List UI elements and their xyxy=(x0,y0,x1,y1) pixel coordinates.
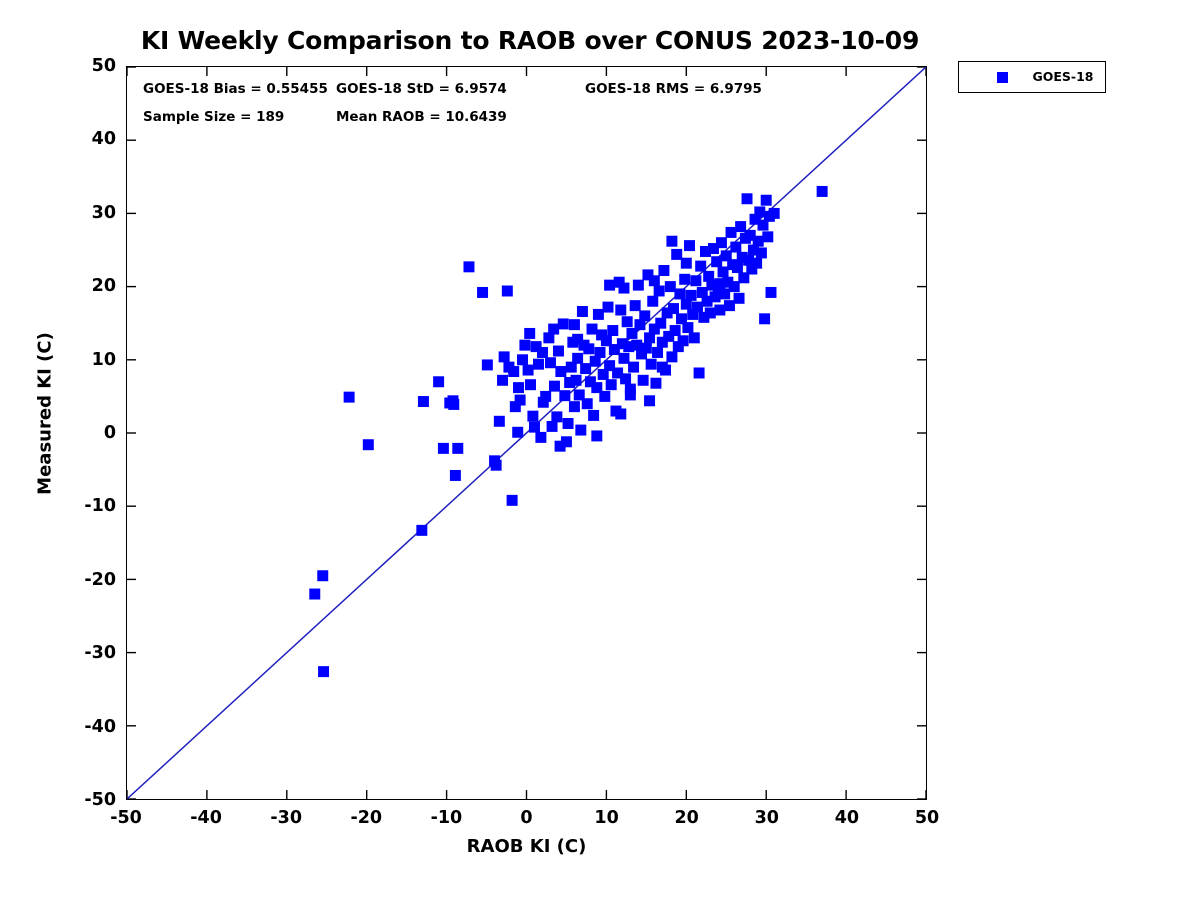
data-point xyxy=(751,258,762,269)
data-point xyxy=(497,375,508,386)
data-point xyxy=(620,373,631,384)
data-point xyxy=(718,266,729,277)
reference-line-one-to-one xyxy=(127,67,926,799)
y-tick-label: -30 xyxy=(52,643,116,663)
data-point xyxy=(666,236,677,247)
data-point xyxy=(591,430,602,441)
data-point xyxy=(540,391,551,402)
data-point xyxy=(726,227,737,238)
data-point xyxy=(549,381,560,392)
y-tick-label: -50 xyxy=(52,790,116,810)
x-tick-label: 40 xyxy=(807,808,887,828)
data-point xyxy=(555,366,566,377)
data-point xyxy=(533,359,544,370)
data-point xyxy=(730,242,741,253)
data-point xyxy=(724,300,735,311)
data-point xyxy=(735,221,746,232)
data-point xyxy=(433,376,444,387)
data-point xyxy=(630,300,641,311)
data-point xyxy=(705,307,716,318)
y-tick-label: -10 xyxy=(52,496,116,516)
x-tick-label: 30 xyxy=(727,808,807,828)
x-tick-label: 50 xyxy=(887,808,967,828)
data-point xyxy=(618,353,629,364)
data-point xyxy=(650,378,661,389)
legend: GOES-18 xyxy=(958,61,1106,93)
legend-marker-goes-18 xyxy=(997,72,1008,83)
y-axis-tick-labels: -50-40-30-20-1001020304050 xyxy=(50,66,116,800)
data-point xyxy=(671,249,682,260)
legend-label-goes-18: GOES-18 xyxy=(1025,69,1101,84)
data-point xyxy=(639,310,650,321)
data-point xyxy=(732,262,743,273)
data-point xyxy=(527,411,538,422)
y-tick-label: 40 xyxy=(52,129,116,149)
y-tick-label: 10 xyxy=(52,350,116,370)
data-point xyxy=(756,247,767,258)
data-point xyxy=(559,390,570,401)
data-point xyxy=(548,324,559,335)
data-point xyxy=(679,274,690,285)
data-point xyxy=(761,195,772,206)
data-point xyxy=(628,362,639,373)
data-point xyxy=(569,401,580,412)
data-point xyxy=(317,570,328,581)
x-axis-tick-labels: -50-40-30-20-1001020304050 xyxy=(126,808,927,836)
data-point xyxy=(684,240,695,251)
data-point xyxy=(575,425,586,436)
data-point xyxy=(666,351,677,362)
series-goes-18 xyxy=(309,186,827,677)
data-point xyxy=(762,231,773,242)
data-point xyxy=(571,375,582,386)
data-point xyxy=(508,366,519,377)
x-tick-label: -30 xyxy=(246,808,326,828)
data-point xyxy=(452,443,463,454)
y-tick-label: -40 xyxy=(52,717,116,737)
data-point xyxy=(647,296,658,307)
data-point xyxy=(695,261,706,272)
data-point xyxy=(681,258,692,269)
data-point xyxy=(686,290,697,301)
page-title: KI Weekly Comparison to RAOB over CONUS … xyxy=(0,26,1060,55)
data-point xyxy=(729,281,740,292)
data-point xyxy=(754,206,765,217)
data-point xyxy=(547,421,558,432)
data-point xyxy=(513,382,524,393)
data-point xyxy=(665,281,676,292)
data-point xyxy=(577,306,588,317)
data-point xyxy=(535,432,546,443)
y-tick-label: -20 xyxy=(52,570,116,590)
data-point xyxy=(644,395,655,406)
data-point xyxy=(477,287,488,298)
data-point xyxy=(309,589,320,600)
data-point xyxy=(638,375,649,386)
data-point xyxy=(525,379,536,390)
x-tick-label: 20 xyxy=(647,808,727,828)
data-point xyxy=(655,318,666,329)
data-point xyxy=(580,363,591,374)
x-tick-label: 0 xyxy=(487,808,567,828)
data-point xyxy=(753,236,764,247)
data-point xyxy=(682,322,693,333)
data-point xyxy=(593,309,604,320)
data-point xyxy=(416,525,427,536)
data-point xyxy=(563,418,574,429)
data-point xyxy=(599,391,610,402)
legend-swatch-rect xyxy=(997,72,1008,83)
data-point xyxy=(633,280,644,291)
data-point xyxy=(491,460,502,471)
data-point xyxy=(622,316,633,327)
data-point xyxy=(515,395,526,406)
data-point xyxy=(714,305,725,316)
data-point xyxy=(572,353,583,364)
data-point xyxy=(618,283,629,294)
data-point xyxy=(555,441,566,452)
x-tick-label: -20 xyxy=(326,808,406,828)
y-tick-label: 30 xyxy=(52,203,116,223)
data-point xyxy=(641,343,652,354)
data-point xyxy=(603,302,614,313)
data-point xyxy=(588,410,599,421)
chart-figure: KI Weekly Comparison to RAOB over CONUS … xyxy=(0,0,1200,900)
data-point xyxy=(606,379,617,390)
data-point xyxy=(499,351,510,362)
data-point xyxy=(517,354,528,365)
data-point xyxy=(344,392,355,403)
data-point xyxy=(714,278,725,289)
data-point xyxy=(529,422,540,433)
data-point xyxy=(482,359,493,370)
data-point xyxy=(674,288,685,299)
data-point xyxy=(769,208,780,219)
data-point xyxy=(524,328,535,339)
data-point xyxy=(512,427,523,438)
data-point xyxy=(766,287,777,298)
data-point xyxy=(569,319,580,330)
data-point xyxy=(587,324,598,335)
data-point xyxy=(494,416,505,427)
data-point xyxy=(363,439,374,450)
data-point xyxy=(418,396,429,407)
data-point xyxy=(583,343,594,354)
x-tick-label: 10 xyxy=(567,808,647,828)
data-point xyxy=(711,256,722,267)
data-point xyxy=(519,340,530,351)
data-point xyxy=(318,666,329,677)
data-point xyxy=(545,357,556,368)
data-point xyxy=(615,305,626,316)
data-point xyxy=(694,367,705,378)
data-point xyxy=(742,193,753,204)
plot-area: GOES-18 Bias = 0.55455 GOES-18 StD = 6.9… xyxy=(126,66,927,800)
data-point xyxy=(553,346,564,357)
y-tick-label: 50 xyxy=(52,56,116,76)
data-point xyxy=(450,470,461,481)
data-point xyxy=(649,275,660,286)
data-point xyxy=(607,325,618,336)
data-point xyxy=(438,443,449,454)
data-point xyxy=(657,362,668,373)
data-point xyxy=(690,275,701,286)
data-point xyxy=(582,398,593,409)
data-point xyxy=(652,347,663,358)
data-point xyxy=(689,332,700,343)
data-point xyxy=(604,280,615,291)
data-point xyxy=(646,359,657,370)
data-point xyxy=(654,286,665,297)
data-point xyxy=(537,347,548,358)
y-tick-label: 20 xyxy=(52,276,116,296)
data-point xyxy=(507,495,518,506)
data-point xyxy=(668,303,679,314)
data-point xyxy=(716,237,727,248)
data-point xyxy=(625,389,636,400)
scatter-plot-canvas xyxy=(127,67,926,799)
y-axis-title: Measured KI (C) xyxy=(35,314,56,514)
data-point xyxy=(719,288,730,299)
data-point xyxy=(658,265,669,276)
data-point xyxy=(595,347,606,358)
data-point xyxy=(502,286,513,297)
data-point xyxy=(817,186,828,197)
data-point xyxy=(463,261,474,272)
data-point xyxy=(551,411,562,422)
data-point xyxy=(692,302,703,313)
data-point xyxy=(734,293,745,304)
x-tick-label: -40 xyxy=(166,808,246,828)
data-point xyxy=(615,408,626,419)
data-point xyxy=(670,325,681,336)
data-point xyxy=(678,335,689,346)
data-point xyxy=(759,313,770,324)
data-point xyxy=(523,365,534,376)
y-tick-label: 0 xyxy=(52,423,116,443)
x-tick-label: -10 xyxy=(406,808,486,828)
data-point xyxy=(558,318,569,329)
data-point xyxy=(572,334,583,345)
x-axis-title: RAOB KI (C) xyxy=(126,836,927,857)
x-tick-label: -50 xyxy=(86,808,166,828)
data-point xyxy=(448,399,459,410)
